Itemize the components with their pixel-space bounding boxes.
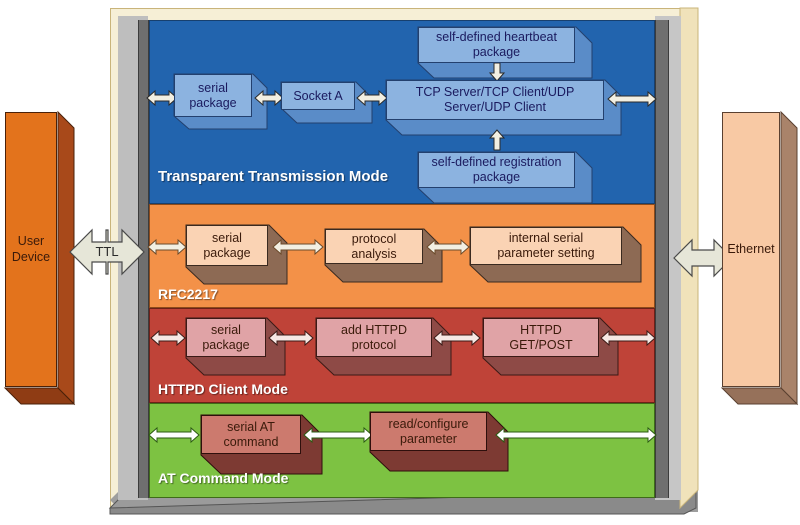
box-label-line1: serial (212, 231, 242, 245)
user-device-block[interactable]: User Device (5, 112, 57, 387)
box-label-line1: protocol (352, 232, 396, 246)
box-httpd-get-post[interactable]: HTTPD GET/POST (483, 318, 599, 357)
section-label-rfc2217: RFC2217 (158, 286, 218, 302)
arrow-serial-to-addprotocol-red (268, 329, 314, 347)
box-label-line1: add HTTPD (341, 323, 407, 337)
arrow-serial-to-protocol-orange (272, 238, 324, 256)
box-label-line2: parameter (400, 432, 457, 446)
user-device-label-line2: Device (12, 250, 50, 264)
ethernet-label: Ethernet (727, 242, 774, 257)
arrow-protocol-to-internal-orange (426, 238, 470, 256)
ttl-connector-label: TTL (82, 244, 132, 259)
box-label-line2: package (189, 96, 236, 110)
box-label-line1: self-defined registration (432, 155, 562, 169)
section-label-httpd: HTTPD Client Mode (158, 381, 288, 397)
box-label-line2: package (473, 170, 520, 184)
arrow-socket-to-tcp-blue (356, 88, 388, 108)
section-label-transparent: Transparent Transmission Mode (158, 168, 388, 185)
box-label-line1: serial (211, 323, 241, 337)
arrow-rail-to-atcmd-green (148, 426, 200, 444)
box-rfc2217-serial-package[interactable]: serial package (186, 225, 268, 266)
box-label-line2: parameter setting (497, 246, 594, 260)
box-transparent-heartbeat-package[interactable]: self-defined heartbeat package (418, 27, 575, 63)
diagram-canvas: Transparent Transmission Mode RFC2217 HT… (0, 0, 800, 525)
box-label-line2: package (473, 45, 520, 59)
arrow-atcmd-to-readparam-green (303, 426, 373, 444)
chassis-right-dark-rail (655, 20, 669, 498)
box-at-read-configure-parameter[interactable]: read/configure parameter (370, 412, 487, 451)
box-transparent-serial-package[interactable]: serial package (174, 74, 252, 117)
box-label-line2: Server/UDP Client (444, 100, 546, 114)
box-label-line2: GET/POST (509, 338, 572, 352)
section-label-at-command: AT Command Mode (158, 470, 288, 486)
user-device-label-line1: User (18, 234, 44, 248)
box-label-line1: read/configure (389, 417, 469, 431)
box-label-line2: package (202, 338, 249, 352)
box-label-line1: serial AT (227, 420, 275, 434)
box-rfc2217-internal-serial[interactable]: internal serial parameter setting (470, 227, 622, 265)
box-label-line2: package (203, 246, 250, 260)
arrow-getpost-to-rail-red (600, 329, 656, 347)
box-label-line1: self-defined heartbeat (436, 30, 557, 44)
arrow-rail-to-serial-orange (147, 238, 187, 256)
arrow-serial-to-socket-blue (254, 88, 284, 108)
box-label-line1: HTTPD (520, 323, 562, 337)
box-label-line1: Socket A (293, 89, 342, 104)
arrow-addprotocol-to-getpost-red (433, 329, 481, 347)
box-label-line2: analysis (351, 247, 396, 261)
box-transparent-registration-package[interactable]: self-defined registration package (418, 152, 575, 188)
arrow-registration-up (487, 129, 507, 151)
ethernet-block[interactable]: Ethernet (722, 112, 780, 387)
arrow-tcp-to-rail-blue (607, 90, 657, 110)
arrow-readparam-to-rail-green (495, 426, 657, 444)
box-httpd-add-protocol[interactable]: add HTTPD protocol (316, 318, 432, 357)
box-transparent-socket-a[interactable]: Socket A (281, 82, 355, 110)
box-at-serial-command[interactable]: serial AT command (201, 415, 301, 454)
arrow-heartbeat-down (487, 62, 507, 82)
box-rfc2217-protocol-analysis[interactable]: protocol analysis (325, 229, 423, 264)
box-transparent-tcp-udp-roles[interactable]: TCP Server/TCP Client/UDP Server/UDP Cli… (386, 80, 604, 120)
box-httpd-serial-package[interactable]: serial package (186, 318, 266, 357)
box-label-line2: protocol (352, 338, 396, 352)
box-label-line1: serial (198, 81, 228, 95)
box-label-line2: command (224, 435, 279, 449)
box-label-line1: internal serial (509, 231, 583, 245)
box-label-line1: TCP Server/TCP Client/UDP (416, 85, 575, 99)
arrow-rail-to-serial-red (150, 329, 186, 347)
